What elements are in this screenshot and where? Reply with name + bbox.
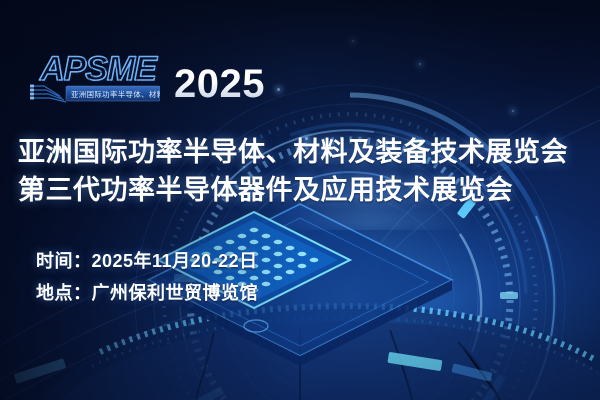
event-poster: APSME APSME 亚洲国际功率半导体、材料及装备技术展览会 2025 亚洲… xyxy=(0,0,600,400)
headline-line-1: 亚洲国际功率半导体、材料及装备技术展览会 xyxy=(18,133,593,171)
info-date: 时间：2025年11月20-22日 xyxy=(36,245,258,277)
svg-text:APSME: APSME xyxy=(41,51,160,89)
apsme-logo: APSME APSME 亚洲国际功率半导体、材料及装备技术展览会 xyxy=(30,46,160,106)
logo-row: APSME APSME 亚洲国际功率半导体、材料及装备技术展览会 2025 xyxy=(30,46,265,106)
event-headline: 亚洲国际功率半导体、材料及装备技术展览会 第三代功率半导体器件及应用技术展览会 xyxy=(18,133,593,209)
apsme-subbar-text: 亚洲国际功率半导体、材料及装备技术展览会 xyxy=(71,90,160,99)
event-info: 时间：2025年11月20-22日 地点：广州保利世贸博览馆 xyxy=(36,245,258,309)
apsme-wordmark-icon: APSME APSME 亚洲国际功率半导体、材料及装备技术展览会 xyxy=(30,46,160,108)
headline-line-2: 第三代功率半导体器件及应用技术展览会 xyxy=(18,171,593,209)
poster-content: APSME APSME 亚洲国际功率半导体、材料及装备技术展览会 2025 亚洲… xyxy=(0,0,600,400)
year-label: 2025 xyxy=(174,64,265,106)
info-venue: 地点：广州保利世贸博览馆 xyxy=(36,277,258,309)
